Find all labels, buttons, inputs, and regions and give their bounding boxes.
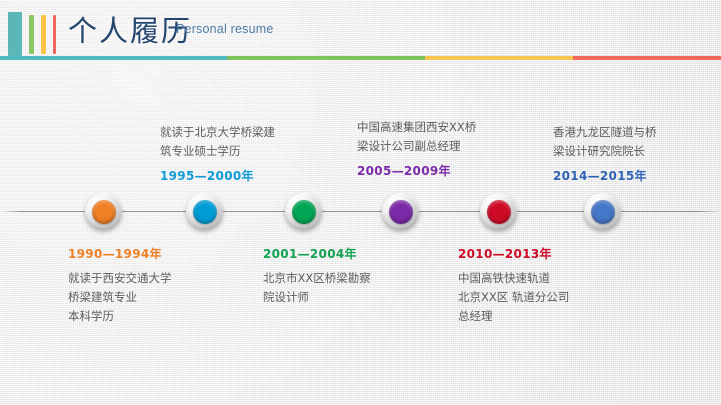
slide-header: 个人履历 Personal resume xyxy=(0,0,721,62)
entry-2014-line-1: 香港九龙区隧道与桥 xyxy=(553,123,721,142)
entry-2001-date: 2001—2004年 xyxy=(263,245,441,264)
teal-bar xyxy=(8,12,22,56)
entry-1990: 1990—1994年就读于西安交通大学桥梁建筑专业本科学历 xyxy=(68,245,246,326)
page-subtitle: Personal resume xyxy=(176,22,274,36)
red-bar xyxy=(53,15,56,54)
entry-1995: 就读于北京大学桥梁建筑专业硕士学历1995—2000年 xyxy=(160,123,338,186)
rule-yellow xyxy=(425,56,573,60)
node-2005[interactable] xyxy=(382,193,419,230)
entry-2010-line-1: 中国高铁快速轨道 xyxy=(458,269,636,288)
node-2005-dot xyxy=(389,200,413,224)
node-2010-dot xyxy=(487,200,511,224)
entry-2005-line-1: 中国高速集团西安XX桥 xyxy=(357,118,535,137)
entry-2010-line-3: 总经理 xyxy=(458,307,636,326)
entry-1995-line-2: 筑专业硕士学历 xyxy=(160,142,338,161)
node-1995-dot xyxy=(193,200,217,224)
rule-teal xyxy=(0,56,227,60)
entry-2005: 中国高速集团西安XX桥梁设计公司副总经理2005—2009年 xyxy=(357,118,535,181)
entry-2001: 2001—2004年北京市XX区桥梁勘察院设计师 xyxy=(263,245,441,307)
node-1990-dot xyxy=(92,200,116,224)
entry-1995-line-1: 就读于北京大学桥梁建 xyxy=(160,123,338,142)
entry-1995-date: 1995—2000年 xyxy=(160,167,338,186)
entry-2005-line-2: 梁设计公司副总经理 xyxy=(357,137,535,156)
entry-2010-date: 2010—2013年 xyxy=(458,245,636,264)
entry-2005-date: 2005—2009年 xyxy=(357,162,535,181)
page-title: 个人履历 xyxy=(68,8,192,50)
entry-2014: 香港九龙区隧道与桥梁设计研究院院长2014—2015年 xyxy=(553,123,721,186)
entry-1990-line-2: 桥梁建筑专业 xyxy=(68,288,246,307)
entry-2010: 2010—2013年中国高铁快速轨道北京XX区 轨道分公司总经理 xyxy=(458,245,636,326)
yellow-bar xyxy=(41,15,46,54)
rule-green xyxy=(227,56,425,60)
entry-1990-date: 1990—1994年 xyxy=(68,245,246,264)
accent-bar-group xyxy=(8,12,63,56)
entry-2001-line-1: 北京市XX区桥梁勘察 xyxy=(263,269,441,288)
entry-1990-line-1: 就读于西安交通大学 xyxy=(68,269,246,288)
entry-2014-line-2: 梁设计研究院院长 xyxy=(553,142,721,161)
header-rule xyxy=(0,56,721,60)
node-2001-dot xyxy=(292,200,316,224)
entry-1990-line-3: 本科学历 xyxy=(68,307,246,326)
entry-2001-line-2: 院设计师 xyxy=(263,288,441,307)
node-2001[interactable] xyxy=(285,193,322,230)
node-2014[interactable] xyxy=(584,193,621,230)
rule-red xyxy=(573,56,721,60)
slide-canvas: 个人履历 Personal resume 1990—1994年就读于西安交通大学… xyxy=(0,0,721,405)
node-2014-dot xyxy=(591,200,615,224)
entry-2014-date: 2014—2015年 xyxy=(553,167,721,186)
node-2010[interactable] xyxy=(480,193,517,230)
entry-2010-line-2: 北京XX区 轨道分公司 xyxy=(458,288,636,307)
green-bar xyxy=(29,15,34,54)
node-1995[interactable] xyxy=(186,193,223,230)
node-1990[interactable] xyxy=(85,193,122,230)
